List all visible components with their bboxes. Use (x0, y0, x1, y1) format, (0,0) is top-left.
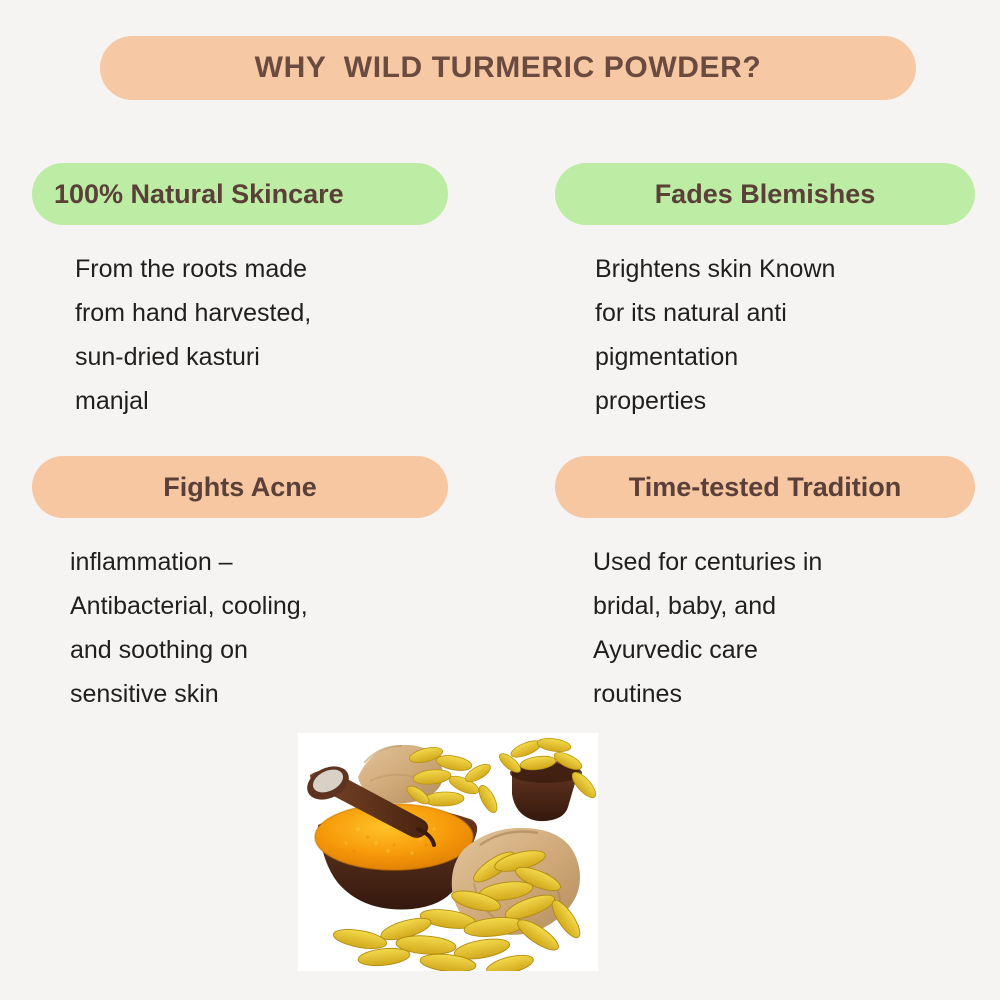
feature-heading-pill-fades-blemishes: Fades Blemishes (555, 163, 975, 225)
feature-card-time-tested-tradition: Time-tested Tradition Used for centuries… (555, 456, 975, 716)
feature-heading-pill-fights-acne: Fights Acne (32, 456, 448, 518)
feature-heading-label: Fades Blemishes (655, 181, 876, 208)
feature-body-text: inflammation – Antibacterial, cooling, a… (70, 540, 448, 716)
turmeric-product-photo (298, 733, 598, 971)
feature-body-text: From the roots made from hand harvested,… (75, 247, 448, 423)
feature-card-fights-acne: Fights Acne inflammation – Antibacterial… (32, 456, 448, 716)
feature-heading-pill-time-tested-tradition: Time-tested Tradition (555, 456, 975, 518)
feature-card-natural-skincare: 100% Natural Skincare From the roots mad… (32, 163, 448, 423)
feature-card-fades-blemishes: Fades Blemishes Brightens skin Known for… (555, 163, 975, 423)
feature-heading-label: Time-tested Tradition (629, 474, 902, 501)
title-banner: WHY WILD TURMERIC POWDER? (100, 36, 916, 100)
feature-body-text: Brightens skin Known for its natural ant… (595, 247, 975, 423)
infographic-canvas: WHY WILD TURMERIC POWDER? 100% Natural S… (0, 0, 1000, 1000)
feature-heading-label: Fights Acne (163, 474, 317, 501)
feature-heading-label: 100% Natural Skincare (54, 181, 344, 208)
feature-body-text: Used for centuries in bridal, baby, and … (593, 540, 975, 716)
turmeric-photo-illustration (298, 733, 598, 971)
page-title: WHY WILD TURMERIC POWDER? (255, 51, 762, 85)
feature-heading-pill-natural-skincare: 100% Natural Skincare (32, 163, 448, 225)
